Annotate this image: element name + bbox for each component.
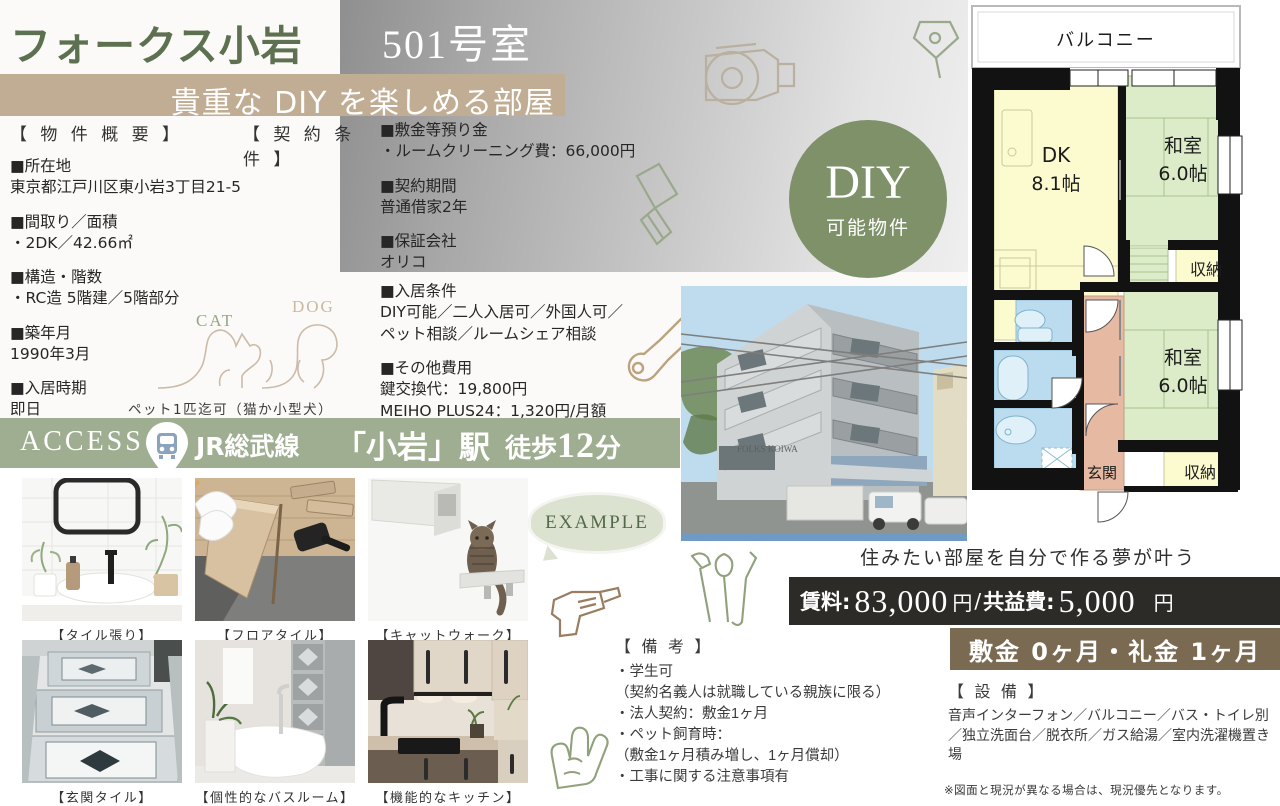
overview-value: 東京都江戸川区東小岩3丁目21-5 bbox=[10, 177, 260, 199]
overview-label: ■築年月 bbox=[10, 323, 260, 344]
deposit-bar: 敷金 0ヶ月・礼金 1ヶ月 bbox=[950, 628, 1280, 670]
photo-caption: 【玄関タイル】 bbox=[22, 787, 182, 806]
remarks-item: ・工事に関する注意事項有 bbox=[615, 767, 935, 788]
price-bar: 賃料: 83,000 円 / 共益費: 5,000 円 bbox=[789, 577, 1280, 625]
access-walk-time: 徒歩12分 bbox=[505, 424, 621, 466]
contract-value: オリコ bbox=[380, 252, 680, 274]
building-sign: FOLKS KOIWA bbox=[737, 444, 798, 454]
overview-value: 1990年3月 bbox=[10, 344, 260, 366]
floorplan-dk-name: DK bbox=[1042, 143, 1071, 167]
overview-value: ・2DK／42.66㎡ bbox=[10, 233, 260, 255]
rent-value: 83,000 bbox=[854, 583, 948, 620]
photo-kitchen bbox=[368, 640, 528, 783]
overview-label: ■入居時期 bbox=[10, 378, 260, 399]
contract-conditions-title: 【 契 約 条 件 】 bbox=[243, 120, 363, 181]
deposit-text: 敷金 0ヶ月・礼金 1ヶ月 bbox=[969, 632, 1261, 667]
walk-minutes: 12 bbox=[557, 425, 595, 465]
floorplan-closet1: 収納 bbox=[1190, 260, 1222, 279]
remarks-item: ・ペット飼育時： bbox=[615, 725, 935, 746]
contract-deposit-group: ■敷金等預り金・ルームクリーニング費：66,000円 ■契約期間普通借家2年 ■… bbox=[380, 120, 680, 287]
price-separator: / bbox=[974, 589, 981, 613]
contract-value: ・ルームクリーニング費：66,000円 bbox=[380, 141, 680, 163]
remarks-title: 【 備 考 】 bbox=[615, 633, 935, 657]
rent-label: 賃料: bbox=[800, 586, 850, 616]
room-number: 501号室 bbox=[382, 12, 532, 70]
photo-floor-tile bbox=[195, 478, 355, 621]
equipment-body: 音声インターフォン／バルコニー／バス・トイレ別／独立洗面台／脱衣所／ガス給湯／室… bbox=[948, 706, 1280, 765]
pet-note: ペット1匹迄可（猫か小型犬） bbox=[128, 398, 333, 418]
property-overview: 【 物 件 概 要 】 ■所在地東京都江戸川区東小岩3丁目21-5 ■間取り／面… bbox=[10, 120, 260, 434]
access-label: ACCESS bbox=[20, 426, 144, 458]
access-line-name: JR総武線 bbox=[196, 427, 300, 463]
catchphrase-text: 貴重な DIY を楽しめる部屋 bbox=[171, 78, 555, 122]
example-bubble: EXAMPLE bbox=[528, 492, 666, 554]
contract-label: ■契約期間 bbox=[380, 176, 680, 197]
tenancy-conditions-group: ■入居条件DIY可能／二人入居可／外国人可／ ペット相談／ルームシェア相談 ■そ… bbox=[380, 281, 670, 436]
remarks-list: ・学生可 （契約名義人は就職している親族に限る） ・法人契約：敷金1ヶ月 ・ペッ… bbox=[615, 662, 935, 788]
contract-value: 普通借家2年 bbox=[380, 197, 680, 219]
hammer-wrench-screwdriver-icon bbox=[684, 548, 766, 632]
diy-badge-sub: 可能物件 bbox=[826, 213, 910, 240]
photo-entrance-tile bbox=[22, 640, 182, 783]
access-station-name: 「小岩」駅 bbox=[335, 422, 490, 467]
contract-label: ■敷金等預り金 bbox=[380, 120, 680, 141]
equipment-title: 【 設 備 】 bbox=[948, 678, 1280, 702]
price-tagline: 住みたい部屋を自分で作る夢が叶う bbox=[860, 543, 1196, 570]
remarks-item: （敷金1ヶ月積み増し、1ヶ月償却） bbox=[615, 746, 935, 767]
walk-suffix: 分 bbox=[595, 434, 621, 464]
equipment-section: 【 設 備 】 音声インターフォン／バルコニー／バス・トイレ別／独立洗面台／脱衣… bbox=[948, 678, 1280, 765]
photo-bathroom bbox=[195, 640, 355, 783]
remarks-section: 【 備 考 】 ・学生可 （契約名義人は就職している親族に限る） ・法人契約：敷… bbox=[615, 633, 935, 788]
other-fees-value: 鍵交換代：19,800円 MEIHO PLUS24：1,320円/月額 bbox=[380, 379, 670, 422]
overview-label: ■所在地 bbox=[10, 156, 260, 177]
flyer-page: フォークス小岩 501号室 貴重な DIY を楽しめる部屋 DIY 可能物件 bbox=[0, 0, 1280, 804]
disclaimer-text: ※図面と現況が異なる場合は、現況優先となります。 bbox=[944, 782, 1229, 798]
maintenance-unit: 円 bbox=[1154, 587, 1174, 616]
photo-tile-work bbox=[22, 478, 182, 621]
photo-caption: 【個性的なバスルーム】 bbox=[190, 787, 360, 806]
photo-caption: 【機能的なキッチン】 bbox=[363, 787, 533, 806]
walk-prefix: 徒歩 bbox=[505, 434, 557, 464]
maintenance-label: 共益費: bbox=[983, 586, 1054, 616]
tenancy-value: DIY可能／二人入居可／外国人可／ ペット相談／ルームシェア相談 bbox=[380, 302, 670, 345]
floorplan-washitsu1-name: 和室 bbox=[1164, 135, 1202, 157]
rent-unit: 円 bbox=[952, 587, 972, 616]
floorplan-washitsu2-name: 和室 bbox=[1164, 347, 1202, 369]
floorplan-dk-size: 8.1帖 bbox=[1031, 173, 1080, 195]
floor-plan: DK 8.1帖 和室 6.0帖 和室 6.0帖 収納 収納 玄関 バルコニー bbox=[968, 0, 1280, 530]
remarks-item: ・法人契約：敷金1ヶ月 bbox=[615, 704, 935, 725]
diy-badge: DIY 可能物件 bbox=[789, 120, 947, 278]
contract-label: ■保証会社 bbox=[380, 231, 680, 252]
tenancy-label: ■入居条件 bbox=[380, 281, 670, 302]
overview-title: 【 物 件 概 要 】 bbox=[10, 120, 260, 145]
overview-value: ・RC造 5階建／5階部分 bbox=[10, 288, 260, 310]
building-exterior-photo: FOLKS KOIWA bbox=[681, 286, 967, 541]
access-bar: ACCESS JR総武線 「小岩」駅 徒歩12分 bbox=[0, 418, 680, 468]
maintenance-value: 5,000 bbox=[1059, 583, 1136, 620]
other-fees-label: ■その他費用 bbox=[380, 358, 670, 379]
overview-label: ■間取り／面積 bbox=[10, 212, 260, 233]
remarks-item: （契約名義人は就職している親族に限る） bbox=[615, 683, 935, 704]
floorplan-balcony: バルコニー bbox=[1056, 30, 1156, 51]
work-gloves-icon bbox=[544, 716, 620, 796]
train-pin-icon bbox=[144, 420, 190, 480]
photo-cat-walk bbox=[368, 478, 528, 621]
remarks-item: ・学生可 bbox=[615, 662, 935, 683]
floorplan-closet2: 収納 bbox=[1184, 463, 1216, 482]
floorplan-washitsu1-size: 6.0帖 bbox=[1158, 163, 1207, 185]
overview-label: ■構造・階数 bbox=[10, 267, 260, 288]
example-bubble-label: EXAMPLE bbox=[545, 512, 649, 534]
catchphrase-band: 貴重な DIY を楽しめる部屋 bbox=[0, 74, 565, 116]
page-title: フォークス小岩 bbox=[10, 12, 303, 72]
diy-badge-main: DIY bbox=[825, 159, 910, 207]
floorplan-entrance: 玄関 bbox=[1087, 464, 1117, 482]
contract-title: 【 契 約 条 件 】 bbox=[243, 120, 363, 170]
drill-icon bbox=[546, 578, 624, 648]
floorplan-washitsu2-size: 6.0帖 bbox=[1158, 375, 1207, 397]
